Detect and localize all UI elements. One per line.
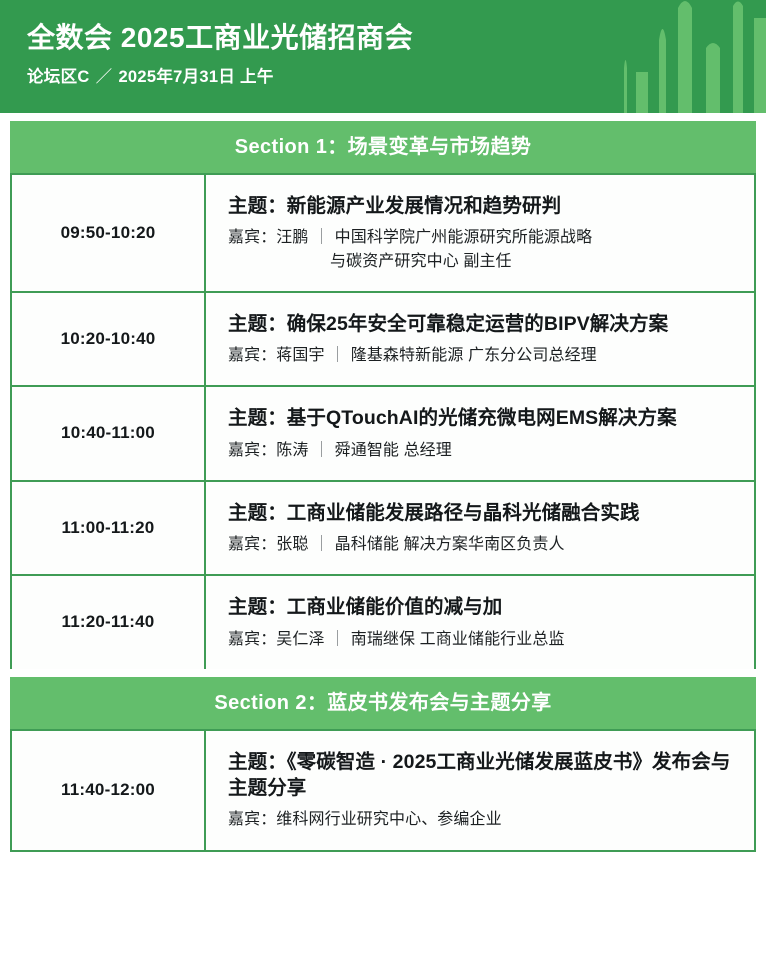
- session-time: 09:50-10:20: [12, 175, 206, 291]
- guest-org-line-1: 中国科学院广州能源研究所能源战略: [335, 229, 593, 246]
- table-row[interactable]: 11:40-12:00 主题：《零碳智造 · 2025工商业光储发展蓝皮书》发布…: [12, 731, 754, 850]
- subtitle-separator: ／: [90, 63, 119, 87]
- poster-header: 全数会 2025工商业光储招商会 论坛区C／2025年7月31日 上午: [0, 0, 766, 113]
- session-time: 10:40-11:00: [12, 387, 206, 480]
- session-info: 主题：确保25年安全可靠稳定运营的BIPV解决方案 嘉宾：蒋国宇｜隆基森特新能源…: [206, 293, 754, 386]
- session-topic: 主题：《零碳智造 · 2025工商业光储发展蓝皮书》发布会与主题分享: [228, 749, 740, 802]
- guest-name: 嘉宾：吴仁泽: [228, 631, 325, 648]
- guest-separator: ｜: [325, 628, 351, 651]
- guest-org-line-1: 隆基森特新能源 广东分公司总经理: [351, 347, 597, 364]
- guest-org-line-1: 晶科储能 解决方案华南区负责人: [335, 536, 565, 553]
- date-label: 2025年7月31日 上午: [118, 68, 273, 86]
- session-info: 主题：工商业储能发展路径与晶科光储融合实践 嘉宾：张聪｜晶科储能 解决方案华南区…: [206, 482, 754, 575]
- guest-name: 嘉宾：陈涛: [228, 442, 309, 459]
- city-skyline-decoration: [616, 0, 766, 113]
- session-info: 主题：工商业储能价值的减与加 嘉宾：吴仁泽｜南瑞继保 工商业储能行业总监: [206, 576, 754, 669]
- agenda-poster: 全数会 2025工商业光储招商会 论坛区C／2025年7月31日 上午 Sect…: [0, 0, 766, 972]
- page-title: 全数会 2025工商业光储招商会: [27, 20, 413, 55]
- header-subtitle: 论坛区C／2025年7月31日 上午: [27, 63, 413, 87]
- guest-name: 嘉宾：蒋国宇: [228, 347, 325, 364]
- venue-label: 论坛区C: [27, 68, 90, 86]
- guest-org-line-1: 舜通智能 总经理: [335, 442, 452, 459]
- header-text-block: 全数会 2025工商业光储招商会 论坛区C／2025年7月31日 上午: [27, 20, 413, 87]
- session-info: 主题：《零碳智造 · 2025工商业光储发展蓝皮书》发布会与主题分享 嘉宾：维科…: [206, 731, 754, 850]
- session-time: 10:20-10:40: [12, 293, 206, 386]
- session-guest: 嘉宾：陈涛｜舜通智能 总经理: [228, 439, 740, 462]
- table-row[interactable]: 10:40-11:00 主题：基于QTouchAI的光储充微电网EMS解决方案 …: [12, 387, 754, 482]
- session-time: 11:40-12:00: [12, 731, 206, 850]
- section-rows-1: 09:50-10:20 主题：新能源产业发展情况和趋势研判 嘉宾：汪鹏｜中国科学…: [10, 173, 756, 669]
- session-info: 主题：新能源产业发展情况和趋势研判 嘉宾：汪鹏｜中国科学院广州能源研究所能源战略…: [206, 175, 754, 291]
- session-guest: 嘉宾：张聪｜晶科储能 解决方案华南区负责人: [228, 533, 740, 556]
- guest-org-line-2: 与碳资产研究中心 副主任: [228, 250, 740, 273]
- session-info: 主题：基于QTouchAI的光储充微电网EMS解决方案 嘉宾：陈涛｜舜通智能 总…: [206, 387, 754, 480]
- session-topic: 主题：工商业储能价值的减与加: [228, 594, 740, 620]
- session-topic: 主题：确保25年安全可靠稳定运营的BIPV解决方案: [228, 311, 740, 337]
- guest-org-line-1: 南瑞继保 工商业储能行业总监: [351, 631, 565, 648]
- session-time: 11:00-11:20: [12, 482, 206, 575]
- session-topic: 主题：基于QTouchAI的光储充微电网EMS解决方案: [228, 405, 740, 431]
- guest-name: 嘉宾：张聪: [228, 536, 309, 553]
- guest-separator: ｜: [325, 344, 351, 367]
- session-topic: 主题：新能源产业发展情况和趋势研判: [228, 193, 740, 219]
- table-row[interactable]: 11:00-11:20 主题：工商业储能发展路径与晶科光储融合实践 嘉宾：张聪｜…: [12, 482, 754, 577]
- section-header-1: Section 1：场景变革与市场趋势: [10, 121, 756, 173]
- section-header-2: Section 2：蓝皮书发布会与主题分享: [10, 677, 756, 729]
- guest-separator: ｜: [309, 226, 335, 249]
- table-row[interactable]: 11:20-11:40 主题：工商业储能价值的减与加 嘉宾：吴仁泽｜南瑞继保 工…: [12, 576, 754, 669]
- session-guest: 嘉宾：吴仁泽｜南瑞继保 工商业储能行业总监: [228, 628, 740, 651]
- agenda-body: Section 1：场景变革与市场趋势 09:50-10:20 主题：新能源产业…: [0, 121, 766, 862]
- guest-name: 嘉宾：维科网行业研究中心、参编企业: [228, 811, 502, 828]
- session-guest: 嘉宾：汪鹏｜中国科学院广州能源研究所能源战略 与碳资产研究中心 副主任: [228, 226, 740, 272]
- session-guest: 嘉宾：维科网行业研究中心、参编企业: [228, 808, 740, 831]
- guest-name: 嘉宾：汪鹏: [228, 229, 309, 246]
- section-rows-2: 11:40-12:00 主题：《零碳智造 · 2025工商业光储发展蓝皮书》发布…: [10, 729, 756, 852]
- table-row[interactable]: 10:20-10:40 主题：确保25年安全可靠稳定运营的BIPV解决方案 嘉宾…: [12, 293, 754, 388]
- table-row[interactable]: 09:50-10:20 主题：新能源产业发展情况和趋势研判 嘉宾：汪鹏｜中国科学…: [12, 175, 754, 293]
- guest-separator: ｜: [309, 439, 335, 462]
- session-topic: 主题：工商业储能发展路径与晶科光储融合实践: [228, 500, 740, 526]
- guest-separator: ｜: [309, 533, 335, 556]
- session-time: 11:20-11:40: [12, 576, 206, 669]
- session-guest: 嘉宾：蒋国宇｜隆基森特新能源 广东分公司总经理: [228, 344, 740, 367]
